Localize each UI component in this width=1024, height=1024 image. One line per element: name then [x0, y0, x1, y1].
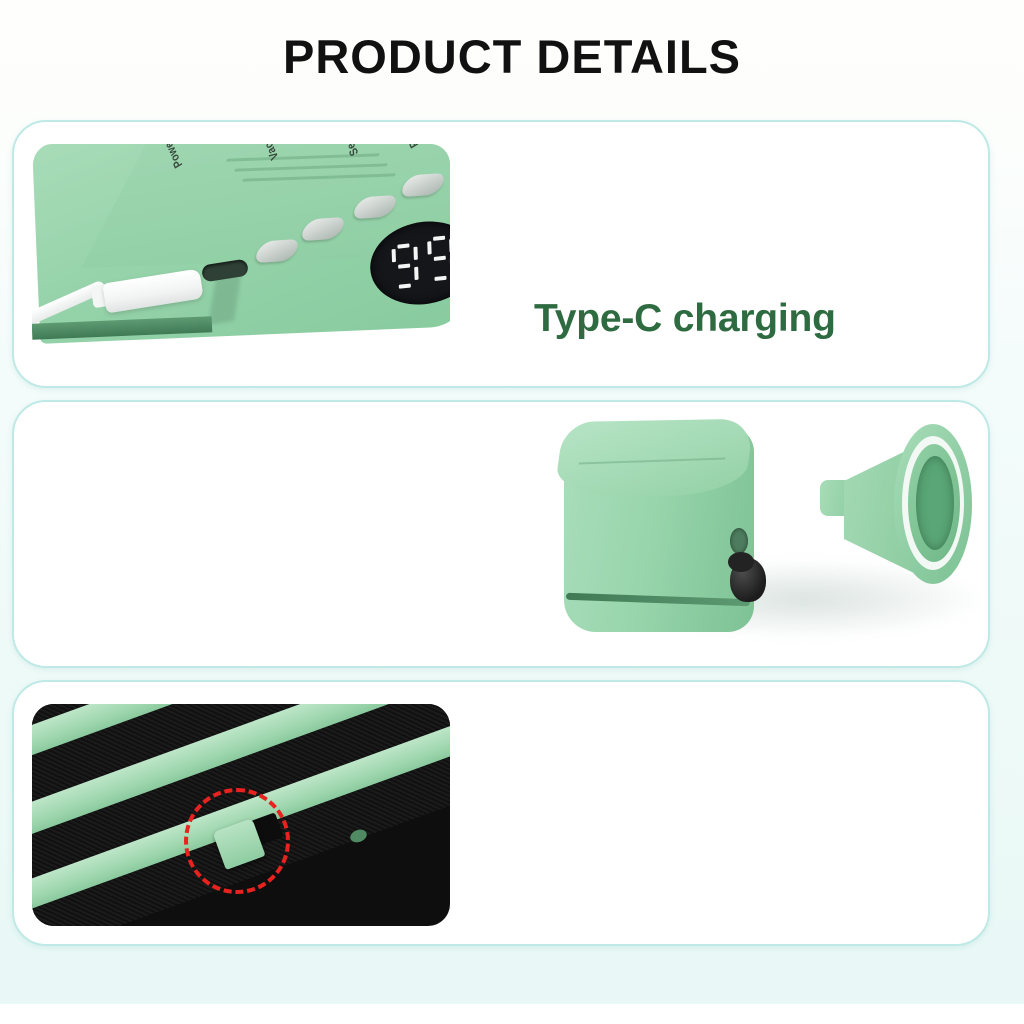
joint-socket-hole [730, 528, 748, 554]
detail-card-type-c-charging: Power on/Temperature Vacuum seal Seal it… [12, 120, 990, 388]
detail-card-outer-joint: Outer joint Replace the external joint, … [12, 400, 990, 668]
text-block-type-c-charging: Type-C charging [534, 298, 836, 339]
page-header: PRODUCT DETAILS [0, 0, 1024, 112]
funnel-nozzle-opening [916, 456, 954, 550]
product-photo-type-c-charging: Power on/Temperature Vacuum seal Seal it… [32, 144, 450, 366]
product-photo-outer-joint [534, 410, 982, 662]
black-rubber-plug-cap [728, 552, 754, 572]
product-photo-bag-clip-design [32, 704, 450, 926]
card-heading-type-c-charging: Type-C charging [534, 298, 836, 339]
red-dashed-circle-highlight [184, 788, 290, 894]
page-title: PRODUCT DETAILS [283, 33, 741, 80]
page-background: PRODUCT DETAILS Power on/Temperature Vac… [0, 0, 1024, 1024]
detail-card-bag-clip-design: Bag clip design Card bag mouth, accurate… [12, 680, 990, 946]
